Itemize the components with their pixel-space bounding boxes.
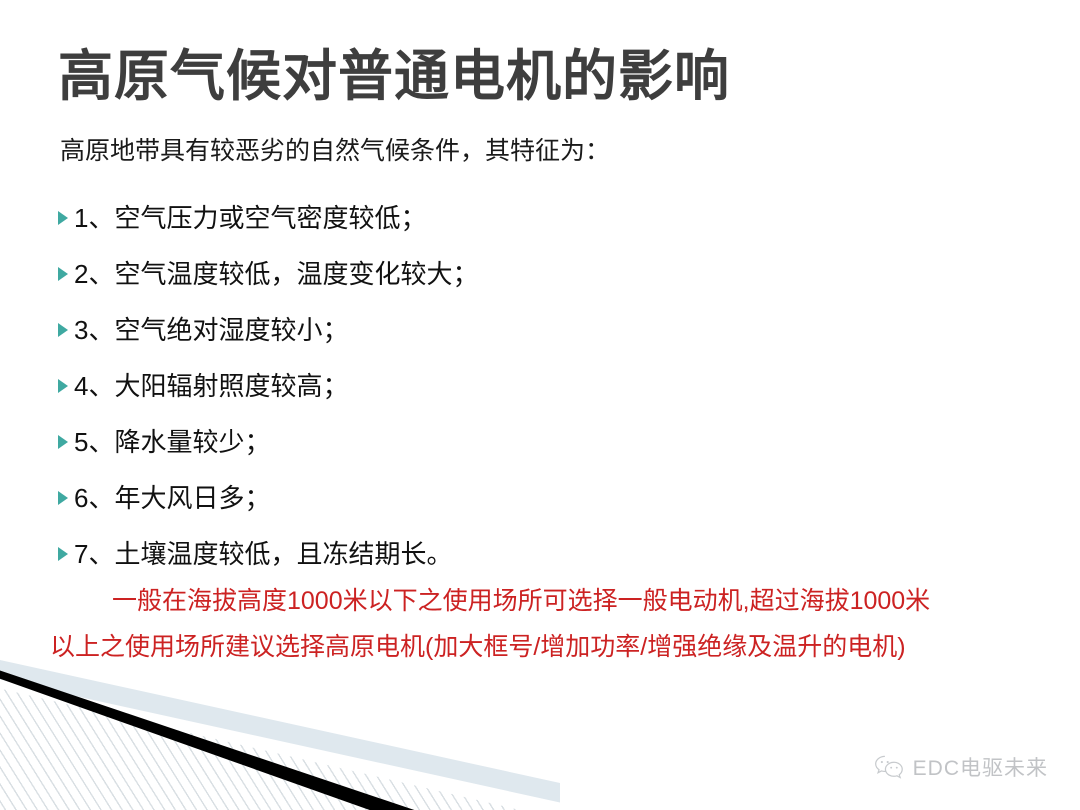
triangle-bullet-icon bbox=[56, 302, 74, 358]
list-item-label: 7、土壤温度较低，且冻结期长。 bbox=[74, 526, 452, 582]
list-item: 3、空气绝对湿度较小； bbox=[56, 302, 956, 358]
list-item: 7、土壤温度较低，且冻结期长。 bbox=[56, 526, 956, 582]
watermark-label: EDC电驱未来 bbox=[913, 752, 1048, 782]
list-item: 5、降水量较少； bbox=[56, 414, 956, 470]
highlight-note-line-1: 一般在海拔高度1000米以下之使用场所可选择一般电动机,超过海拔1000米 bbox=[50, 578, 1050, 624]
list-item: 4、大阳辐射照度较高； bbox=[56, 358, 956, 414]
triangle-bullet-icon bbox=[56, 358, 74, 414]
black-diagonal-band bbox=[0, 660, 560, 810]
decorative-corner-graphic bbox=[0, 660, 560, 810]
list-item: 1、空气压力或空气密度较低； bbox=[56, 190, 956, 246]
list-item-label: 1、空气压力或空气密度较低； bbox=[74, 190, 426, 246]
list-item-label: 3、空气绝对湿度较小； bbox=[74, 302, 348, 358]
triangle-bullet-icon bbox=[56, 414, 74, 470]
feature-bullet-list: 1、空气压力或空气密度较低； 2、空气温度较低，温度变化较大； 3、空气绝对湿度… bbox=[56, 190, 956, 582]
presentation-slide: 高原气候对普通电机的影响 高原地带具有较恶劣的自然气候条件，其特征为： 1、空气… bbox=[0, 0, 1080, 810]
list-item: 6、年大风日多； bbox=[56, 470, 956, 526]
pale-diagonal-band bbox=[0, 660, 560, 810]
watermark: EDC电驱未来 bbox=[874, 752, 1048, 782]
highlight-note: 一般在海拔高度1000米以下之使用场所可选择一般电动机,超过海拔1000米 以上… bbox=[50, 578, 1050, 670]
triangle-bullet-icon bbox=[56, 190, 74, 246]
list-item-label: 6、年大风日多； bbox=[74, 470, 270, 526]
triangle-bullet-icon bbox=[56, 246, 74, 302]
list-item-label: 2、空气温度较低，温度变化较大； bbox=[74, 246, 478, 302]
list-item: 2、空气温度较低，温度变化较大； bbox=[56, 246, 956, 302]
highlight-note-line-2: 以上之使用场所建议选择高原电机(加大框号/增加功率/增强绝缘及温升的电机) bbox=[50, 624, 1050, 670]
slide-title: 高原气候对普通电机的影响 bbox=[58, 48, 730, 106]
list-item-label: 4、大阳辐射照度较高； bbox=[74, 358, 348, 414]
slide-subtitle: 高原地带具有较恶劣的自然气候条件，其特征为： bbox=[60, 136, 610, 167]
triangle-bullet-icon bbox=[56, 526, 74, 582]
triangle-bullet-icon bbox=[56, 470, 74, 526]
wechat-icon bbox=[874, 754, 904, 780]
list-item-label: 5、降水量较少； bbox=[74, 414, 270, 470]
striped-wedge-shape bbox=[0, 678, 520, 810]
